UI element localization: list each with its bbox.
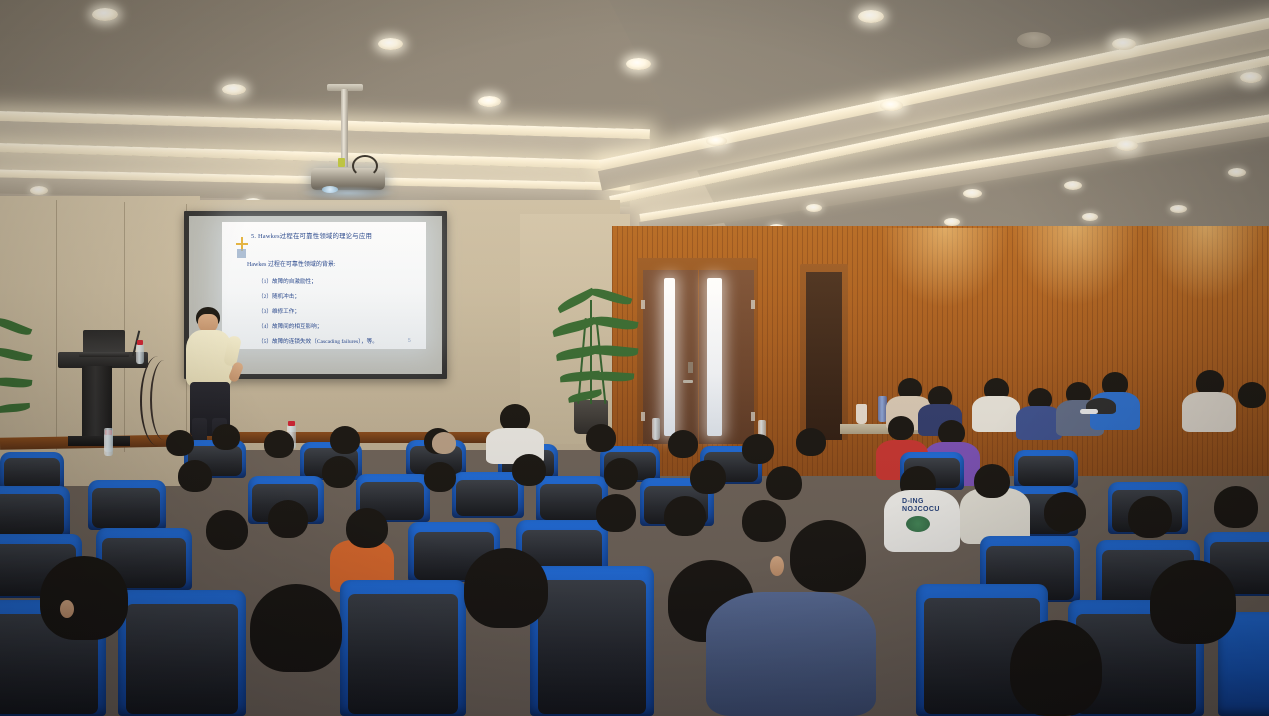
audience-head [586, 424, 616, 452]
projector-cable [352, 155, 378, 177]
audience-head [742, 500, 786, 542]
projector-pole [341, 89, 348, 167]
slide-subtitle: Hawkes 过程在可靠性领域的背景: [247, 259, 336, 268]
wall-light-glow [1146, 226, 1266, 301]
downlight [30, 186, 48, 195]
bottle-cap [137, 340, 143, 345]
downlight [222, 84, 246, 95]
projected-slide [222, 222, 426, 349]
audience-head [790, 520, 866, 592]
audience-torso [706, 592, 876, 716]
downlight [706, 136, 727, 146]
door-hinge [751, 300, 755, 309]
projector-connector [338, 158, 345, 167]
slide-bullet: （3）维修工作； [258, 307, 300, 315]
downlight [963, 189, 982, 198]
audience-head [268, 500, 308, 538]
downlight [1064, 181, 1082, 190]
bottle-cap [288, 421, 295, 426]
laptop-screen [83, 330, 125, 354]
smoke-detector-icon [1017, 32, 1051, 48]
water-bottle [136, 344, 144, 364]
slide-page-mark: 5 [408, 338, 411, 344]
audience-head [668, 430, 698, 458]
audience-head [1128, 496, 1172, 538]
door-glass-panel [664, 278, 675, 436]
audience-ear [770, 556, 784, 576]
seat-back-pad [0, 494, 64, 536]
audience-head [166, 430, 194, 456]
audience-head [1010, 620, 1102, 716]
audience-head [424, 462, 456, 492]
downlight [626, 58, 651, 70]
seat-back-pad [126, 604, 238, 714]
tshirt-logo-icon [906, 516, 930, 532]
downlight [1112, 38, 1136, 50]
audience-head [330, 426, 360, 454]
water-bottle [652, 418, 660, 440]
audience-head [264, 430, 294, 458]
audience-head [346, 508, 388, 548]
seat-back-pad [540, 484, 602, 520]
audience-head [796, 428, 826, 456]
audience-head [742, 434, 774, 464]
wall-light-glow [1010, 226, 1140, 306]
audience-head [974, 464, 1010, 498]
downlight [478, 96, 501, 107]
audience-head [766, 466, 802, 500]
downlight [880, 100, 903, 111]
audience-head [206, 510, 248, 550]
seat-back-pad [92, 488, 160, 528]
projector-light-spill [300, 186, 396, 200]
audience-head [322, 456, 356, 488]
slide-bullet: （2）随机冲击； [258, 292, 300, 300]
audience-head [250, 584, 342, 672]
slide-bullet: （5）故障的连锁失效（Cascading failures），等。 [258, 337, 378, 345]
downlight [1240, 72, 1262, 83]
seat-back-pad [538, 580, 646, 714]
tshirt-print-text: D-ING NOJCOCU [902, 498, 962, 514]
seat-back-pad [456, 480, 518, 516]
door-handle[interactable] [683, 380, 693, 383]
laptop-base [79, 352, 129, 357]
audience-head [596, 494, 636, 532]
door-glass-panel [707, 278, 722, 436]
downlight [1082, 213, 1098, 221]
audience-ear [60, 600, 74, 618]
audience-head [664, 496, 706, 536]
floor-cable [150, 360, 178, 440]
seat-back-pad [348, 594, 458, 714]
wall-light-glow [880, 228, 1010, 308]
audience-head-bald [432, 432, 456, 454]
audience-head [178, 460, 212, 492]
door-hinge [641, 300, 645, 309]
downlight [378, 38, 403, 50]
downlight [806, 204, 822, 212]
audience-head [1150, 560, 1236, 644]
slide-bullet: （1）故障的自激励性； [258, 277, 317, 285]
audience-head [888, 416, 914, 440]
audience-head [1238, 382, 1266, 408]
audience-head [1044, 492, 1086, 532]
side-doorway-opening[interactable] [806, 272, 842, 440]
door-hinge [751, 412, 755, 421]
audience-head [464, 548, 548, 628]
slide-title: 5. Hawkes过程在可靠性领域的理论与应用 [251, 231, 372, 240]
audience-torso [972, 396, 1020, 432]
wall-seam [56, 200, 57, 450]
audience-head [604, 458, 638, 490]
audience-head [512, 454, 546, 486]
seat-back-pad [1018, 456, 1074, 486]
downlight [944, 218, 960, 226]
water-bottle [104, 428, 113, 452]
audience-head [690, 460, 726, 494]
slide-logo-icon [236, 237, 250, 259]
lecture-hall-photo: 5. Hawkes过程在可靠性领域的理论与应用 Hawkes 过程在可靠性领域的… [0, 0, 1269, 716]
wall-seam [124, 202, 125, 452]
downlight [92, 8, 118, 21]
slide-bullet: （4）故障间的相互影响； [258, 322, 322, 330]
downlight [1116, 140, 1138, 151]
downlight [1228, 168, 1246, 177]
cap-brim-icon [1080, 409, 1098, 414]
downlight [858, 10, 884, 23]
door-hinge [641, 412, 645, 421]
lectern-base [68, 436, 130, 446]
downlight [1170, 205, 1187, 213]
drink-cup [856, 404, 867, 424]
door-lock-plate [688, 362, 693, 373]
audience-head [212, 424, 240, 450]
audience-head [40, 556, 128, 640]
audience-head [1214, 486, 1258, 528]
audience-torso [1182, 392, 1236, 432]
